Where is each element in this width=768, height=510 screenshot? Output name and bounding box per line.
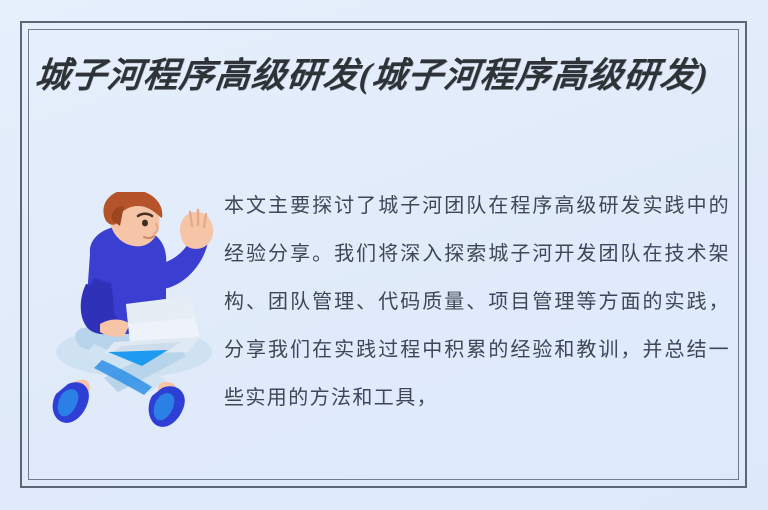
article-paragraph: 本文主要探讨了城子河团队在程序高级研发实践中的经验分享。我们将深入探索城子河开发… <box>224 182 730 422</box>
article-title: 城子河程序高级研发(城子河程序高级研发) <box>33 50 734 101</box>
article-card: 城子河程序高级研发(城子河程序高级研发) <box>0 0 768 510</box>
hero-illustration <box>38 192 226 432</box>
